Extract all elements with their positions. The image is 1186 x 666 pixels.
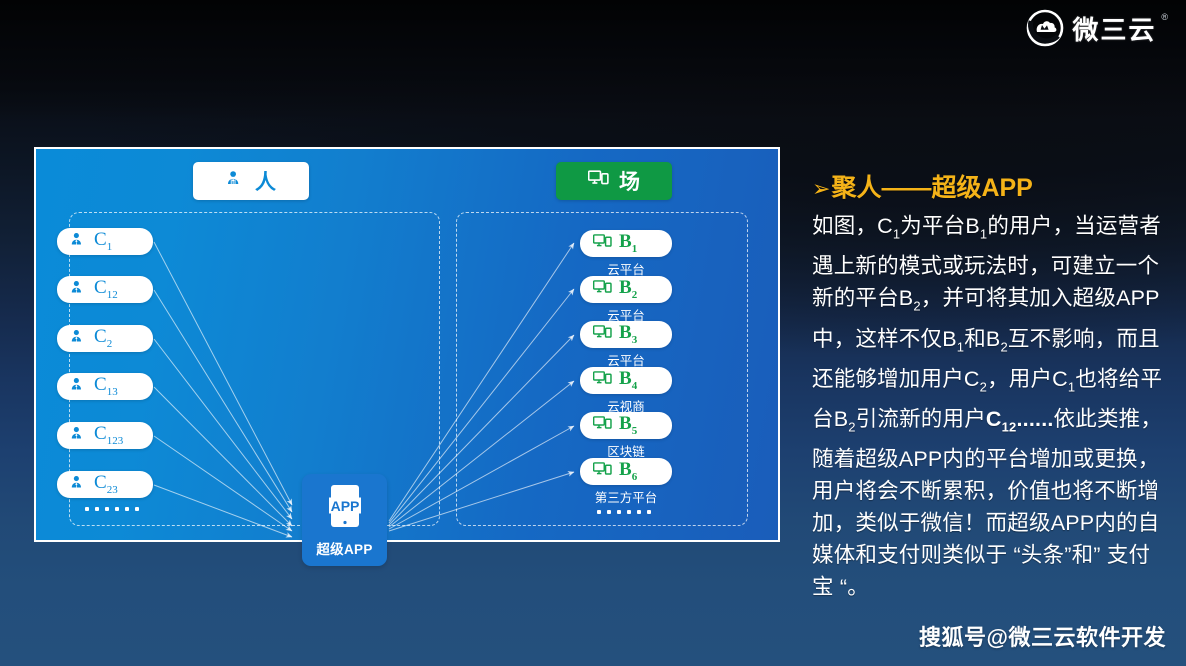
text-column: ➢聚人——超级APP 如图，C1为平台B1的用户，当运营者遇上新的模式或玩法时，… xyxy=(812,168,1164,603)
top-gradient-overlay xyxy=(0,0,1186,120)
diagram-panel: 人 场 xyxy=(34,147,780,542)
node-super-app[interactable]: APP 超级APP xyxy=(302,474,387,566)
node-customer[interactable]: C2 xyxy=(57,325,153,352)
devices-icon xyxy=(593,279,612,301)
node-customer-label: C13 xyxy=(94,375,118,398)
tablet-app-icon: APP xyxy=(324,483,366,534)
svg-text:APP: APP xyxy=(330,498,359,514)
header-place-label: 场 xyxy=(619,166,640,196)
watermark: 搜狐号@微三云软件开发 xyxy=(919,620,1166,652)
node-platform[interactable]: B3 xyxy=(580,321,672,348)
node-customer[interactable]: C13 xyxy=(57,373,153,400)
devices-icon xyxy=(593,461,612,483)
person-icon xyxy=(226,169,245,194)
devices-icon xyxy=(593,233,612,255)
customers-ellipsis xyxy=(85,507,139,511)
person-icon xyxy=(70,425,87,447)
node-platform-label: B3 xyxy=(619,323,637,346)
node-customer[interactable]: C123 xyxy=(57,422,153,449)
node-customer-label: C2 xyxy=(94,327,112,350)
node-platform[interactable]: B6 xyxy=(580,458,672,485)
person-icon xyxy=(70,279,87,301)
person-icon xyxy=(70,376,87,398)
person-icon xyxy=(70,231,87,253)
section-heading: ➢聚人——超级APP xyxy=(812,168,1164,204)
devices-icon xyxy=(593,370,612,392)
slide-canvas: 微三云 ® 人 xyxy=(0,0,1186,666)
brand-logo: 微三云 ® xyxy=(1025,8,1168,48)
cloud-logo-icon xyxy=(1025,8,1065,48)
node-customer-label: C12 xyxy=(94,278,118,301)
brand-wordmark: 微三云 xyxy=(1072,10,1156,47)
devices-icon xyxy=(593,324,612,346)
node-platform[interactable]: B4 xyxy=(580,367,672,394)
node-super-app-label: 超级APP xyxy=(316,538,372,558)
node-customer-label: C1 xyxy=(94,230,112,253)
devices-icon xyxy=(588,169,609,194)
node-customer-label: C123 xyxy=(94,424,123,447)
section-paragraph: 如图，C1为平台B1的用户，当运营者遇上新的模式或玩法时，可建立一个新的平台B2… xyxy=(812,210,1164,603)
node-platform-label: B2 xyxy=(619,278,637,301)
registered-mark: ® xyxy=(1161,12,1168,22)
header-place: 场 xyxy=(556,162,672,200)
node-platform[interactable]: B2 xyxy=(580,276,672,303)
node-customer-label: C23 xyxy=(94,473,118,496)
node-platform-label: B1 xyxy=(619,232,637,255)
node-platform[interactable]: B1 xyxy=(580,230,672,257)
devices-icon xyxy=(593,415,612,437)
person-icon xyxy=(70,328,87,350)
node-platform-caption: 第三方平台 xyxy=(580,487,672,506)
arrow-bullet-icon: ➢ xyxy=(812,176,830,201)
person-icon xyxy=(70,474,87,496)
node-platform-label: B4 xyxy=(619,369,637,392)
node-platform-label: B5 xyxy=(619,414,637,437)
node-customer[interactable]: C12 xyxy=(57,276,153,303)
header-people-label: 人 xyxy=(255,166,276,196)
header-people: 人 xyxy=(193,162,309,200)
platforms-ellipsis xyxy=(597,510,651,514)
node-platform[interactable]: B5 xyxy=(580,412,672,439)
node-customer[interactable]: C1 xyxy=(57,228,153,255)
node-platform-label: B6 xyxy=(619,460,637,483)
section-heading-text: 聚人——超级APP xyxy=(831,174,1032,202)
node-customer[interactable]: C23 xyxy=(57,471,153,498)
